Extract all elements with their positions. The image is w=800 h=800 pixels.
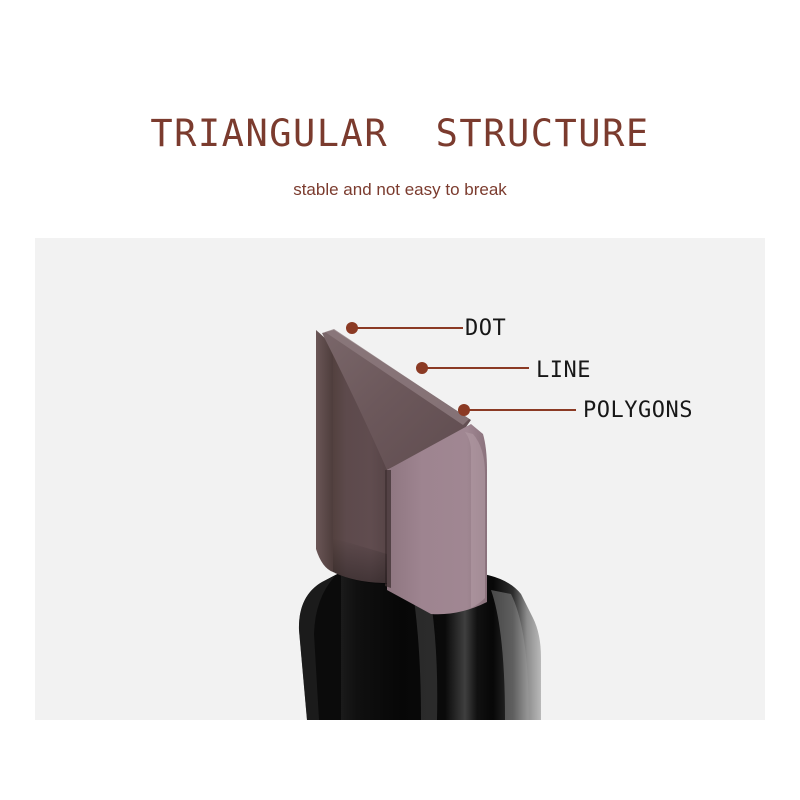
marker-dot: [346, 322, 358, 334]
product-photo-panel: DOT LINE POLYGONS: [35, 238, 765, 720]
page-subtitle: stable and not easy to break: [0, 180, 800, 200]
page-title: TRIANGULAR STRUCTURE: [0, 112, 800, 155]
callout-label-polygons: POLYGONS: [583, 398, 693, 423]
callout-label-dot: DOT: [465, 316, 506, 341]
callout-label-line: LINE: [536, 358, 591, 383]
page-root: TRIANGULAR STRUCTURE stable and not easy…: [0, 0, 800, 800]
marker-polygons: [458, 404, 470, 416]
pencil-lead-tip: [316, 329, 487, 614]
product-illustration: [35, 238, 765, 720]
marker-line: [416, 362, 428, 374]
